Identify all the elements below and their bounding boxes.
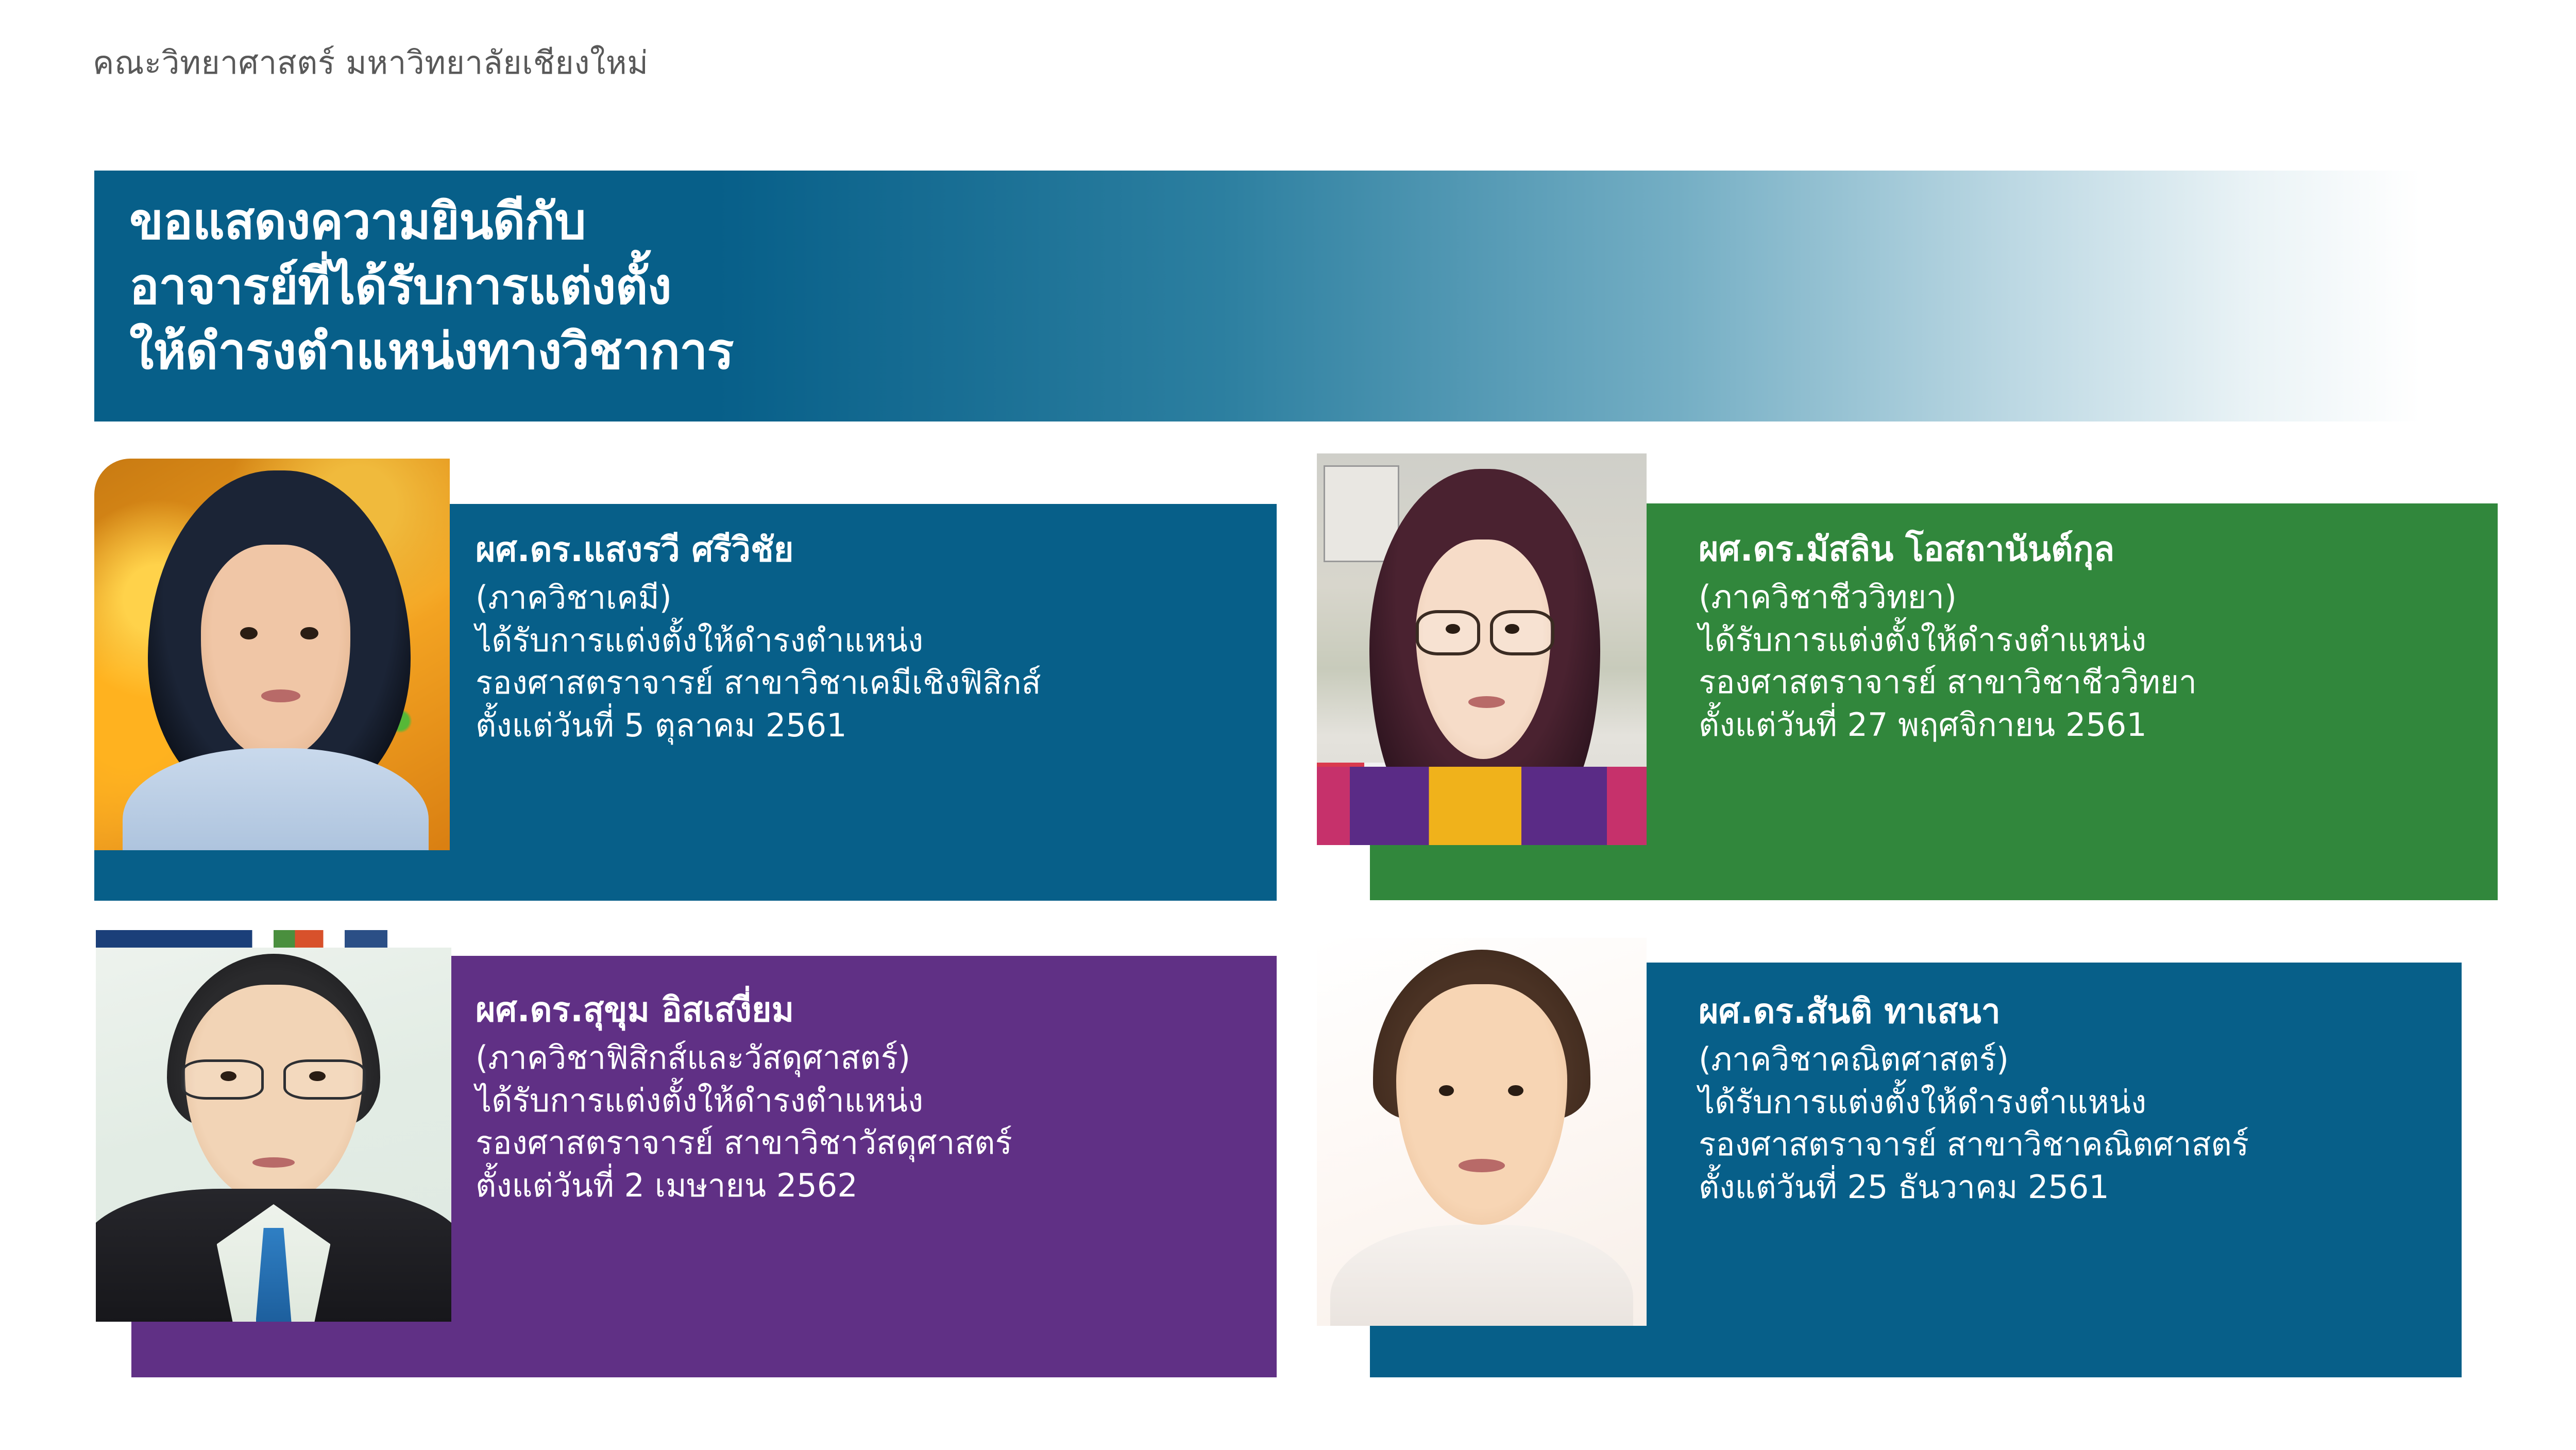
card-4-text-block: ผศ.ดร.สันติ ทาเสนา (ภาควิชาคณิตศาสตร์) ไ…: [1699, 992, 2249, 1208]
card-4-line-1: ได้รับการแต่งตั้งให้ดำรงตำแหน่ง: [1699, 1082, 2249, 1123]
card-2-line-3: ตั้งแต่วันที่ 27 พฤศจิกายน 2561: [1699, 704, 2197, 746]
card-4-department: (ภาควิชาคณิตศาสตร์): [1699, 1039, 2249, 1081]
appointment-card-1[interactable]: ผศ.ดร.แสงรวี ศรีวิชัย (ภาควิชาเคมี) ได้ร…: [94, 504, 1277, 901]
card-3-department: (ภาควิชาฟิสิกส์และวัสดุศาสตร์): [476, 1037, 1012, 1079]
card-1-line-2: รองศาสตราจารย์ สาขาวิชาเคมีเชิงฟิสิกส์: [476, 662, 1041, 704]
card-2-line-1: ได้รับการแต่งตั้งให้ดำรงตำแหน่ง: [1699, 619, 2197, 661]
card-2-text-block: ผศ.ดร.มัสลิน โอสถานันต์กุล (ภาควิชาชีววิ…: [1699, 530, 2197, 746]
portrait-photo-3: [96, 930, 451, 1322]
card-1-department: (ภาควิชาเคมี): [476, 577, 1041, 619]
card-2-department: (ภาควิชาชีววิทยา): [1699, 577, 2197, 618]
card-3-line-2: รองศาสตราจารย์ สาขาวิชาวัสดุศาสตร์: [476, 1122, 1012, 1164]
appointment-card-2[interactable]: ผศ.ดร.มัสลิน โอสถานันต์กุล (ภาควิชาชีววิ…: [1370, 503, 2498, 900]
card-1-line-1: ได้รับการแต่งตั้งให้ดำรงตำแหน่ง: [476, 620, 1041, 662]
portrait-photo-4: [1317, 938, 1647, 1326]
appointment-card-4[interactable]: ผศ.ดร.สันติ ทาเสนา (ภาควิชาคณิตศาสตร์) ไ…: [1370, 963, 2462, 1377]
headline-banner: ขอแสดงความยินดีกับ อาจารย์ที่ได้รับการแต…: [94, 171, 2493, 421]
card-1-name: ผศ.ดร.แสงรวี ศรีวิชัย: [476, 531, 1041, 569]
card-2-name: ผศ.ดร.มัสลิน โอสถานันต์กุล: [1699, 530, 2197, 568]
appointment-card-3[interactable]: ผศ.ดร.สุขุม อิสเสงี่ยม (ภาควิชาฟิสิกส์แล…: [131, 956, 1277, 1377]
headline-title: ขอแสดงความยินดีกับ อาจารย์ที่ได้รับการแต…: [129, 189, 734, 384]
card-1-text-block: ผศ.ดร.แสงรวี ศรีวิชัย (ภาควิชาเคมี) ได้ร…: [476, 531, 1041, 746]
card-4-line-2: รองศาสตราจารย์ สาขาวิชาคณิตศาสตร์: [1699, 1124, 2249, 1166]
card-4-line-3: ตั้งแต่วันที่ 25 ธันวาคม 2561: [1699, 1167, 2249, 1208]
card-3-line-1: ได้รับการแต่งตั้งให้ดำรงตำแหน่ง: [476, 1080, 1012, 1122]
card-4-name: ผศ.ดร.สันติ ทาเสนา: [1699, 992, 2249, 1031]
portrait-photo-2: [1317, 453, 1647, 845]
card-3-name: ผศ.ดร.สุขุม อิสเสงี่ยม: [476, 991, 1012, 1029]
card-2-line-2: รองศาสตราจารย์ สาขาวิชาชีววิทยา: [1699, 662, 2197, 703]
card-3-line-3: ตั้งแต่วันที่ 2 เมษายน 2562: [476, 1165, 1012, 1207]
faculty-name-kicker: คณะวิทยาศาสตร์ มหาวิทยาลัยเชียงใหม่: [93, 45, 649, 80]
card-1-line-3: ตั้งแต่วันที่ 5 ตุลาคม 2561: [476, 705, 1041, 747]
card-3-text-block: ผศ.ดร.สุขุม อิสเสงี่ยม (ภาควิชาฟิสิกส์แล…: [476, 991, 1012, 1206]
portrait-photo-1: [94, 459, 450, 850]
